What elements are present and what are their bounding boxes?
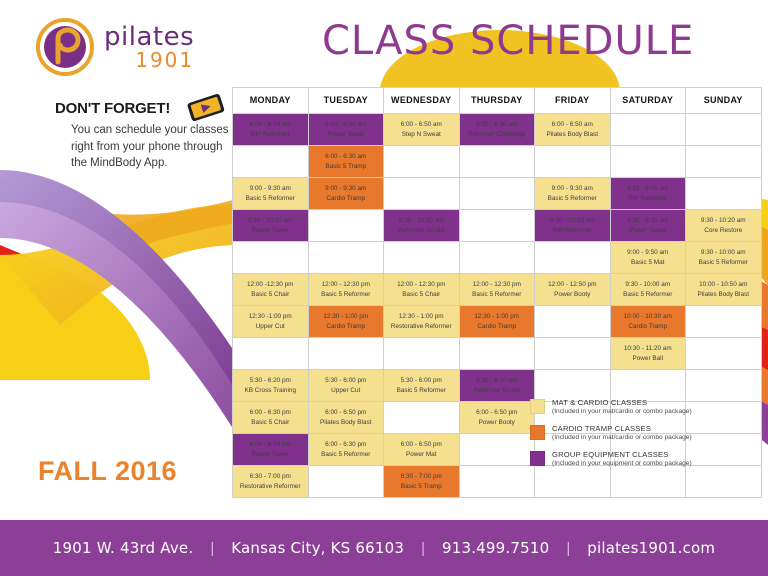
pilates-p-icon (36, 18, 94, 76)
class-cell-empty (535, 146, 611, 178)
class-cell[interactable]: 12:30 -1:00 pmUpper Cut (233, 306, 309, 338)
column-header-friday: FRIDAY (535, 88, 611, 114)
class-cell-empty (686, 178, 762, 210)
class-cell-empty (384, 242, 460, 274)
class-name: Power Tower (233, 226, 308, 236)
class-cell[interactable]: 12:30 - 1:00 pmRestorative Reformer (384, 306, 460, 338)
class-name: Cardio Tramp (309, 322, 384, 332)
class-time: 9:30 - 10:00 am (686, 248, 761, 258)
legend-title: MAT & CARDIO CLASSES (552, 398, 692, 407)
page-title: CLASS SCHEDULE (322, 18, 694, 64)
legend-row: MAT & CARDIO CLASSES(Included in your ma… (530, 398, 754, 415)
class-cell-empty (233, 146, 309, 178)
class-time: 5:30 - 6:20 pm (460, 376, 535, 386)
promo-block: DON'T FORGET! You can schedule your clas… (55, 100, 230, 172)
class-name: Pilates Body Blast (686, 290, 761, 300)
class-cell-empty (686, 370, 762, 402)
class-cell[interactable]: 12:00 - 12:30 pmBasic 5 Chair (384, 274, 460, 306)
class-time: 6:00 - 6:50 am (535, 120, 610, 130)
class-time: 6:00 - 6:50 am (309, 120, 384, 130)
class-time: 6:00 - 6:50 am (384, 120, 459, 130)
class-time: 8:15 - 9:05 am (611, 184, 686, 194)
class-cell[interactable]: 6:00 - 6:50 amReformer Challenge (459, 114, 535, 146)
class-time: 6:00 - 6:30 pm (233, 408, 308, 418)
class-cell[interactable]: 5:30 - 6:00 pmBasic 5 Reformer (384, 370, 460, 402)
footer-bar: 1901 W. 43rd Ave. | Kansas City, KS 6610… (0, 520, 768, 576)
legend-text: MAT & CARDIO CLASSES(Included in your ma… (552, 398, 692, 415)
class-name: Cardio Tramp (460, 322, 535, 332)
class-name: Basic 5 Reformer (460, 290, 535, 300)
class-name: Basic 5 Reformer (233, 194, 308, 204)
class-name: Basic 5 Reformer (309, 450, 384, 460)
class-time: 12:00 - 12:30 pm (460, 280, 535, 290)
footer-address: 1901 W. 43rd Ave. (53, 539, 194, 557)
class-name: Basic 5 Mat (611, 258, 686, 268)
class-time: 6:00 - 6:50 pm (233, 440, 308, 450)
class-cell-empty (308, 210, 384, 242)
promo-body: You can schedule your classes right from… (71, 122, 230, 172)
class-cell-empty (459, 178, 535, 210)
class-name: Reformer Sculpt (384, 226, 459, 236)
class-cell[interactable]: 6:00 - 6:50 amRIP Reformer (233, 114, 309, 146)
class-name: Basic 5 Chair (233, 290, 308, 300)
class-time: 12:00 - 12:30 pm (309, 280, 384, 290)
legend-title: CARDIO TRAMP CLASSES (552, 424, 692, 433)
class-name: RIP Reformer (233, 130, 308, 140)
legend-swatch-mat (530, 399, 545, 414)
class-cell-empty (459, 466, 535, 498)
class-time: 9:00 - 9:30 am (309, 184, 384, 194)
class-cell[interactable]: 12:00 - 12:50 pmPower Booty (535, 274, 611, 306)
class-cell[interactable]: 6:30 - 7:00 pmBasic 5 Tramp (384, 466, 460, 498)
class-cell-empty (535, 370, 611, 402)
class-cell[interactable]: 9:30 - 10:00 amBasic 5 Reformer (686, 242, 762, 274)
class-time: 9:30 - 10:20 am (384, 216, 459, 226)
class-cell[interactable]: 9:30 - 10:20 amReformer Sculpt (384, 210, 460, 242)
class-cell[interactable]: 9:30 - 10:20 amPower Tower (233, 210, 309, 242)
class-name: Power Tower (233, 450, 308, 460)
class-name: Restorative Reformer (384, 322, 459, 332)
class-cell-empty (459, 146, 535, 178)
class-cell[interactable]: 6:30 - 7:00 pmRestorative Reformer (233, 466, 309, 498)
class-time: 9:30 - 10:00 am (611, 280, 686, 290)
class-time: 10:00 - 10:30 am (611, 312, 686, 322)
class-time: 12:00 - 12:50 pm (535, 280, 610, 290)
footer-website[interactable]: pilates1901.com (587, 539, 715, 557)
legend-title: GROUP EQUIPMENT CLASSES (552, 450, 692, 459)
class-cell-empty (459, 242, 535, 274)
class-cell[interactable]: 6:00 - 6:50 amPower Tower (308, 114, 384, 146)
table-row: 9:00 - 9:50 amBasic 5 Mat9:30 - 10:00 am… (233, 242, 762, 274)
class-cell-empty (686, 146, 762, 178)
table-row: 12:30 -1:00 pmUpper Cut12:30 - 1:00 pmCa… (233, 306, 762, 338)
column-header-monday: MONDAY (233, 88, 309, 114)
logo-word-pilates: pilates (104, 24, 194, 50)
logo-word-1901: 1901 (104, 50, 194, 70)
class-time: 12:00 - 12:30 pm (384, 280, 459, 290)
class-cell-empty (384, 402, 460, 434)
class-cell[interactable]: 12:00 - 12:30 pmBasic 5 Reformer (308, 274, 384, 306)
class-name: Basic 5 Tramp (384, 482, 459, 492)
class-name: Cardio Tramp (611, 322, 686, 332)
legend-swatch-equip (530, 451, 545, 466)
class-time: 6:30 - 7:00 pm (384, 472, 459, 482)
class-name: RIP Reformer (611, 194, 686, 204)
footer-separator-2: | (404, 540, 442, 557)
logo-wordmark: pilates 1901 (104, 24, 194, 70)
class-cell[interactable]: 12:00 -12:30 pmBasic 5 Chair (233, 274, 309, 306)
footer-separator-3: | (549, 540, 587, 557)
column-header-thursday: THURSDAY (459, 88, 535, 114)
class-cell-empty (535, 338, 611, 370)
class-cell-empty (686, 306, 762, 338)
class-cell[interactable]: 6:00 - 6:50 amPilates Body Blast (535, 114, 611, 146)
class-name: Cardio Tramp (309, 194, 384, 204)
class-time: 9:00 - 9:30 am (233, 184, 308, 194)
legend-row: CARDIO TRAMP CLASSES(Included in your ma… (530, 424, 754, 441)
class-cell[interactable]: 5:30 - 6:20 pmKB Cross Training (233, 370, 309, 402)
class-time: 6:00 - 6:50 pm (309, 408, 384, 418)
class-name: Power Mat (384, 450, 459, 460)
legend-text: CARDIO TRAMP CLASSES(Included in your ma… (552, 424, 692, 441)
class-time: 12:30 - 1:00 pm (309, 312, 384, 322)
class-cell[interactable]: 6:00 - 6:50 pmPower Booty (459, 402, 535, 434)
class-time: 12:30 - 1:00 pm (460, 312, 535, 322)
legend-note: (Included in your mat/cardio or combo pa… (552, 408, 692, 415)
brand-logo: pilates 1901 (36, 18, 194, 76)
table-row: 12:00 -12:30 pmBasic 5 Chair12:00 - 12:3… (233, 274, 762, 306)
class-name: Pilates Body Blast (309, 418, 384, 428)
class-time: 9:30 - 10:20 am (233, 216, 308, 226)
footer-city: Kansas City, KS 66103 (231, 539, 404, 557)
class-cell[interactable]: 5:30 - 6:20 pmReformer Sculpt (459, 370, 535, 402)
class-time: 6:00 - 6:30 pm (309, 440, 384, 450)
class-cell[interactable]: 5:30 - 6:00 pmUpper Cut (308, 370, 384, 402)
class-name: Upper Cut (309, 386, 384, 396)
class-cell[interactable]: 8:30 - 9:20 amPower Tower (610, 210, 686, 242)
class-cell[interactable]: 6:00 - 6:30 pmBasic 5 Chair (233, 402, 309, 434)
class-cell-empty (459, 338, 535, 370)
column-header-wednesday: WEDNESDAY (384, 88, 460, 114)
class-cell[interactable]: 8:15 - 9:05 amRIP Reformer (610, 178, 686, 210)
class-time: 6:00 - 6:30 am (309, 152, 384, 162)
class-name: Basic 5 Reformer (535, 194, 610, 204)
class-name: Reformer Sculpt (460, 386, 535, 396)
class-time: 5:30 - 6:20 pm (233, 376, 308, 386)
class-cell-empty (384, 338, 460, 370)
legend-note: (Included in your mat/cardio or combo pa… (552, 434, 692, 441)
class-cell[interactable]: 9:00 - 9:30 amBasic 5 Reformer (535, 178, 611, 210)
class-name: Reformer Challenge (460, 130, 535, 140)
class-name: Basic 5 Chair (233, 418, 308, 428)
class-cell-empty (686, 114, 762, 146)
class-name: Basic 5 Chair (384, 290, 459, 300)
class-name: Upper Cut (233, 322, 308, 332)
class-cell-empty (459, 210, 535, 242)
class-time: 6:30 - 7:00 pm (233, 472, 308, 482)
class-cell-empty (535, 306, 611, 338)
promo-heading: DON'T FORGET! (55, 100, 230, 117)
footer-phone[interactable]: 913.499.7510 (442, 539, 549, 557)
class-cell-empty (308, 242, 384, 274)
class-time: 6:00 - 6:50 pm (384, 440, 459, 450)
class-cell[interactable]: 9:30 - 10:00 amBasic 5 Reformer (610, 274, 686, 306)
class-cell[interactable]: 10:30 - 11:20 amPower Ball (610, 338, 686, 370)
class-cell-empty (233, 338, 309, 370)
class-cell-empty (384, 178, 460, 210)
class-cell-empty (535, 242, 611, 274)
class-time: 10:30 - 11:20 am (611, 344, 686, 354)
class-time: 9:00 - 9:30 am (535, 184, 610, 194)
table-row: 10:30 - 11:20 amPower Ball (233, 338, 762, 370)
class-time: 12:30 - 1:00 pm (384, 312, 459, 322)
class-cell[interactable]: 6:00 - 6:30 pmBasic 5 Reformer (308, 434, 384, 466)
class-cell[interactable]: 6:00 - 6:50 amStep N Sweat (384, 114, 460, 146)
class-name: Power Booty (535, 290, 610, 300)
class-cell-empty (233, 242, 309, 274)
legend-text: GROUP EQUIPMENT CLASSES(Included in your… (552, 450, 692, 467)
class-time: 12:30 -1:00 pm (233, 312, 308, 322)
legend-note: (Included in your equipment or combo pac… (552, 460, 692, 467)
class-time: 10:00 - 10:50 am (686, 280, 761, 290)
class-cell-empty (308, 466, 384, 498)
class-name: Basic 5 Reformer (309, 290, 384, 300)
class-time: 9:30 - 10:20 am (535, 216, 610, 226)
class-cell-empty (308, 338, 384, 370)
legend: MAT & CARDIO CLASSES(Included in your ma… (530, 398, 754, 476)
table-row: 5:30 - 6:20 pmKB Cross Training5:30 - 6:… (233, 370, 762, 402)
table-row: 6:00 - 6:30 amBasic 5 Tramp (233, 146, 762, 178)
class-name: Basic 5 Reformer (384, 386, 459, 396)
class-cell[interactable]: 6:00 - 6:30 amBasic 5 Tramp (308, 146, 384, 178)
legend-swatch-tramp (530, 425, 545, 440)
class-name: RIP Reformer (535, 226, 610, 236)
table-row: 9:30 - 10:20 amPower Tower9:30 - 10:20 a… (233, 210, 762, 242)
class-cell-empty (610, 370, 686, 402)
class-cell-empty (384, 146, 460, 178)
class-time: 5:30 - 6:00 pm (309, 376, 384, 386)
class-cell[interactable]: 9:00 - 9:50 amBasic 5 Mat (610, 242, 686, 274)
class-name: Power Tower (309, 130, 384, 140)
class-cell[interactable]: 6:00 - 6:50 pmPilates Body Blast (308, 402, 384, 434)
class-time: 6:00 - 6:50 am (460, 120, 535, 130)
class-cell-empty (459, 434, 535, 466)
class-time: 9:30 - 10:20 am (686, 216, 761, 226)
class-cell[interactable]: 6:00 - 6:50 pmPower Tower (233, 434, 309, 466)
class-name: Pilates Body Blast (535, 130, 610, 140)
class-name: Power Tower (611, 226, 686, 236)
class-name: Core Restore (686, 226, 761, 236)
class-name: Basic 5 Reformer (686, 258, 761, 268)
class-cell[interactable]: 9:00 - 9:30 amCardio Tramp (308, 178, 384, 210)
footer-separator-1: | (193, 540, 231, 557)
column-header-saturday: SATURDAY (610, 88, 686, 114)
class-name: KB Cross Training (233, 386, 308, 396)
class-cell[interactable]: 9:30 - 10:20 amRIP Reformer (535, 210, 611, 242)
class-cell[interactable]: 12:30 - 1:00 pmCardio Tramp (308, 306, 384, 338)
table-row: 9:00 - 9:30 amBasic 5 Reformer9:00 - 9:3… (233, 178, 762, 210)
class-cell-empty (610, 114, 686, 146)
class-cell[interactable]: 6:00 - 6:50 pmPower Mat (384, 434, 460, 466)
class-cell[interactable]: 10:00 - 10:50 amPilates Body Blast (686, 274, 762, 306)
class-cell[interactable]: 12:00 - 12:30 pmBasic 5 Reformer (459, 274, 535, 306)
class-name: Restorative Reformer (233, 482, 308, 492)
poster-canvas: pilates 1901 CLASS SCHEDULE DON'T FORGET… (0, 0, 768, 576)
class-time: 12:00 -12:30 pm (233, 280, 308, 290)
class-time: 8:30 - 9:20 am (611, 216, 686, 226)
season-label: FALL 2016 (38, 456, 177, 487)
class-name: Basic 5 Reformer (611, 290, 686, 300)
class-cell[interactable]: 9:30 - 10:20 amCore Restore (686, 210, 762, 242)
class-time: 6:00 - 6:50 am (233, 120, 308, 130)
class-cell[interactable]: 12:30 - 1:00 pmCardio Tramp (459, 306, 535, 338)
class-cell-empty (686, 338, 762, 370)
class-cell-empty (610, 146, 686, 178)
legend-row: GROUP EQUIPMENT CLASSES(Included in your… (530, 450, 754, 467)
class-name: Power Ball (611, 354, 686, 364)
class-time: 9:00 - 9:50 am (611, 248, 686, 258)
class-time: 6:00 - 6:50 pm (460, 408, 535, 418)
class-name: Step N Sweat (384, 130, 459, 140)
class-time: 5:30 - 6:00 pm (384, 376, 459, 386)
left-swoosh-decoration (0, 150, 240, 480)
table-header-row: MONDAYTUESDAYWEDNESDAYTHURSDAYFRIDAYSATU… (233, 88, 762, 114)
class-cell[interactable]: 10:00 - 10:30 amCardio Tramp (610, 306, 686, 338)
table-row: 6:00 - 6:50 amRIP Reformer6:00 - 6:50 am… (233, 114, 762, 146)
class-name: Basic 5 Tramp (309, 162, 384, 172)
class-cell[interactable]: 9:00 - 9:30 amBasic 5 Reformer (233, 178, 309, 210)
class-name: Power Booty (460, 418, 535, 428)
column-header-sunday: SUNDAY (686, 88, 762, 114)
column-header-tuesday: TUESDAY (308, 88, 384, 114)
